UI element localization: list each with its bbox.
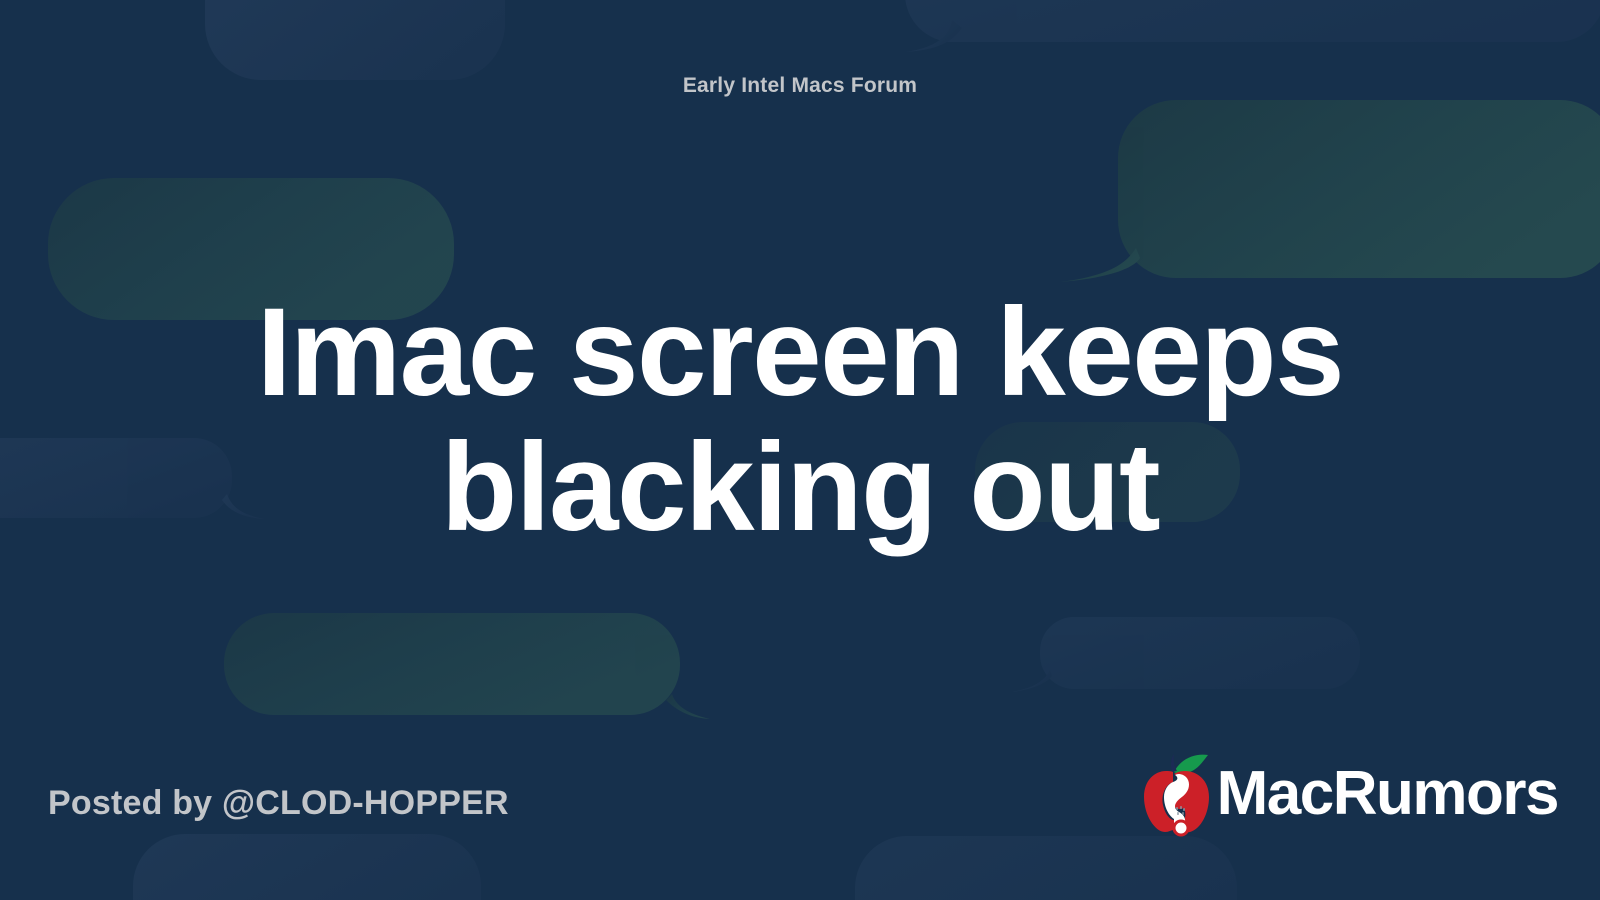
- bubble-low-left-teal: [224, 613, 710, 719]
- forum-label: Early Intel Macs Forum: [0, 74, 1600, 98]
- social-share-card: Early Intel Macs Forum Imac screen keeps…: [0, 0, 1600, 900]
- bubble-top-right-blue: [905, 0, 1600, 52]
- bubble-top-right-teal: [1060, 100, 1600, 282]
- macrumors-logo: MacRumors: [1139, 752, 1558, 838]
- bubble-bottom-right-blue: [855, 836, 1237, 900]
- brand-name-text: MacRumors: [1217, 763, 1558, 825]
- post-title-text: Imac screen keeps blacking out: [160, 285, 1440, 555]
- bubble-low-right-blue: [1012, 617, 1360, 692]
- page-title: Imac screen keeps blacking out: [160, 285, 1440, 555]
- bubble-top-blue: [205, 0, 505, 80]
- bubble-bottom-left-blue: [133, 834, 481, 900]
- macrumors-apple-question-mark-icon: [1139, 752, 1213, 838]
- posted-by-label: Posted by @CLOD-HOPPER: [48, 784, 509, 823]
